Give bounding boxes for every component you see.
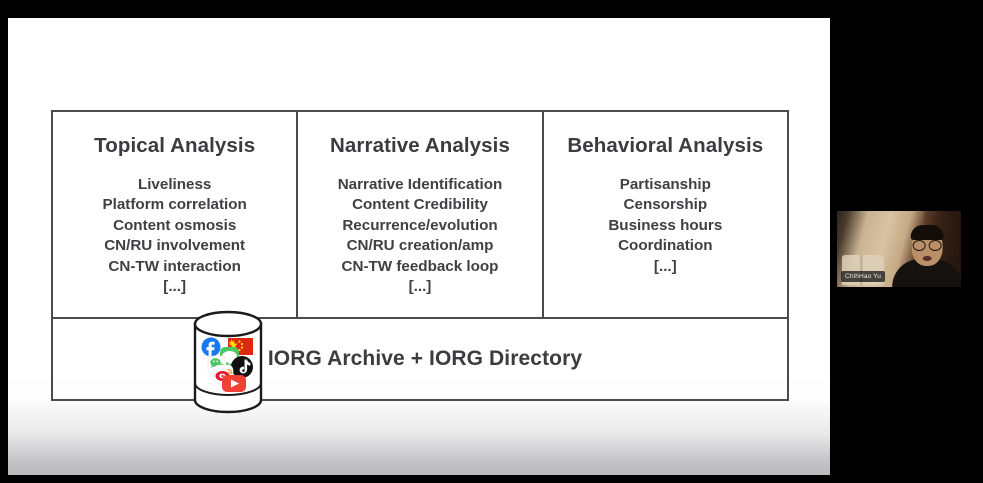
list-item: [...] (59, 277, 290, 297)
list-item: CN-TW interaction (59, 257, 290, 277)
list-item: CN-TW feedback loop (304, 257, 535, 277)
participant-video-tile[interactable]: ChihHao Yu (837, 211, 961, 287)
shared-slide: Topical Analysis Liveliness Platform cor… (8, 18, 830, 475)
list-item: CN/RU involvement (59, 236, 290, 256)
list-item: Content osmosis (59, 216, 290, 236)
list-item: Business hours (550, 216, 781, 236)
participant-name-label: ChihHao Yu (841, 271, 885, 282)
list-item: Partisanship (550, 175, 781, 195)
panel-title: Topical Analysis (59, 134, 290, 158)
panel-narrative-analysis[interactable]: Narrative Analysis Narrative Identificat… (296, 112, 541, 317)
participant-figure (895, 225, 959, 287)
meeting-stage: Topical Analysis Liveliness Platform cor… (0, 0, 983, 483)
list-item: Recurrence/evolution (304, 216, 535, 236)
participant-hair (911, 225, 944, 240)
list-item: Liveliness (59, 175, 290, 195)
panel-behavioral-analysis[interactable]: Behavioral Analysis Partisanship Censors… (542, 112, 787, 317)
panel-topical-analysis[interactable]: Topical Analysis Liveliness Platform cor… (53, 112, 296, 317)
glasses-icon (913, 240, 942, 249)
panel-title: Narrative Analysis (304, 134, 535, 158)
list-item: Coordination (550, 236, 781, 256)
list-item: Censorship (550, 195, 781, 215)
archive-band[interactable]: IORG Archive + IORG Directory (51, 319, 789, 401)
analysis-framework-diagram: Topical Analysis Liveliness Platform cor… (51, 110, 789, 401)
analysis-panel-row: Topical Analysis Liveliness Platform cor… (51, 110, 789, 319)
youtube-logo (222, 375, 246, 392)
panel-item-list: Liveliness Platform correlation Content … (59, 175, 290, 297)
list-item: Platform correlation (59, 195, 290, 215)
list-item: Narrative Identification (304, 175, 535, 195)
archive-title: IORG Archive + IORG Directory (53, 347, 787, 371)
participant-mouth (923, 256, 932, 261)
list-item: [...] (550, 257, 781, 277)
panel-item-list: Narrative Identification Content Credibi… (304, 175, 535, 297)
list-item: CN/RU creation/amp (304, 236, 535, 256)
panel-item-list: Partisanship Censorship Business hours C… (550, 175, 781, 277)
list-item: Content Credibility (304, 195, 535, 215)
list-item: [...] (304, 277, 535, 297)
panel-title: Behavioral Analysis (550, 134, 781, 158)
